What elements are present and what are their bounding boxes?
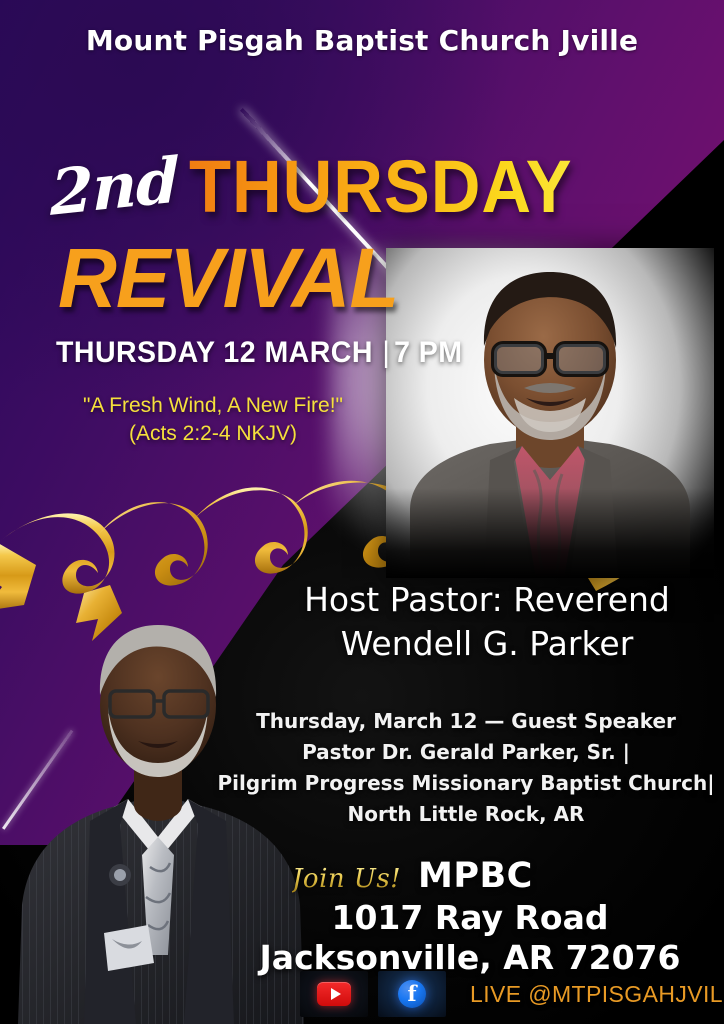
flyer-header: Mount Pisgah Baptist Church Jville — [0, 24, 724, 57]
scripture-block: "A Fresh Wind, A New Fire!" (Acts 2:2-4 … — [48, 392, 378, 448]
guest-line3: Pilgrim Progress Missionary Baptist Chur… — [216, 768, 716, 799]
guest-line1: Thursday, March 12 — Guest Speaker — [216, 706, 716, 737]
scripture-reference: (Acts 2:2-4 NKJV) — [48, 420, 378, 448]
title-event: REVIVAL — [58, 236, 539, 320]
youtube-icon[interactable] — [317, 982, 351, 1006]
guest-speaker-details: Thursday, March 12 — Guest Speaker Pasto… — [216, 706, 716, 830]
title-line-ordinal-day: 2nd THURSDAY — [34, 148, 554, 234]
live-handle: LIVE @MTPISGAHJVILLE — [470, 981, 724, 1008]
youtube-tile[interactable] — [300, 971, 368, 1017]
venue-block: Join Us! MPBC 1017 Ray Road Jacksonville… — [250, 858, 690, 978]
host-pastor-line1: Host Pastor: Reverend — [256, 578, 718, 622]
title-block: 2nd THURSDAY REVIVAL THURSDAY 12 MARCH|7… — [34, 148, 554, 370]
social-bar: f LIVE @MTPISGAHJVILLE — [300, 968, 724, 1020]
title-day: THURSDAY — [189, 148, 572, 226]
play-triangle-icon — [331, 988, 341, 1000]
host-pastor-line2: Wendell G. Parker — [256, 622, 718, 666]
join-us-label: Join Us! — [292, 864, 401, 894]
event-time: 7 PM — [394, 336, 462, 369]
event-datetime: THURSDAY 12 MARCH|7 PM — [56, 336, 529, 370]
facebook-icon[interactable]: f — [398, 980, 426, 1008]
church-name: Mount Pisgah Baptist Church Jville — [0, 24, 724, 57]
facebook-tile[interactable]: f — [378, 971, 446, 1017]
venue-street: 1017 Ray Road — [250, 898, 690, 938]
title-ordinal: 2nd — [50, 143, 178, 230]
event-date: THURSDAY 12 MARCH — [56, 336, 373, 369]
revival-flyer: Mount Pisgah Baptist Church Jville 2nd T… — [0, 0, 724, 1024]
venue-abbreviation: MPBC — [418, 856, 533, 896]
host-pastor-name: Host Pastor: Reverend Wendell G. Parker — [256, 578, 718, 666]
date-time-separator: | — [373, 336, 394, 370]
venue-row-primary: Join Us! MPBC — [250, 858, 690, 898]
guest-line4: North Little Rock, AR — [216, 799, 716, 830]
scripture-quote: "A Fresh Wind, A New Fire!" — [48, 392, 378, 420]
guest-line2: Pastor Dr. Gerald Parker, Sr. | — [216, 737, 716, 768]
